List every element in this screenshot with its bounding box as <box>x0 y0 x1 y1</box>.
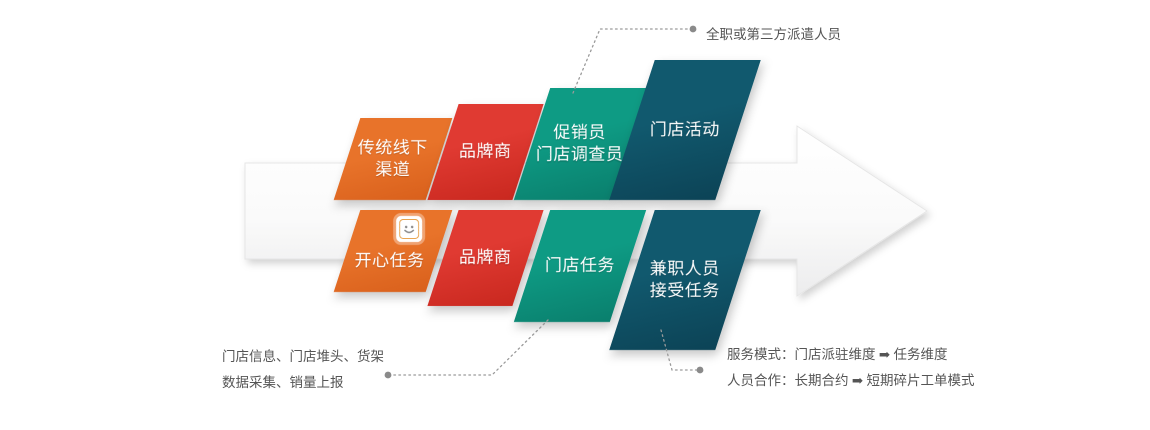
block-label: 开心任务 <box>355 250 425 272</box>
block-label: 促销员 门店调查员 <box>536 122 624 167</box>
connector-dot-bottom-right <box>697 367 704 374</box>
block-label: 门店活动 <box>650 119 720 141</box>
connector-dot-top-right <box>690 26 697 33</box>
annotation-bottom-left: 门店信息、门店堆头、货架 数据采集、销量上报 <box>222 344 384 397</box>
block-store-activity[interactable]: 门店活动 <box>609 60 760 200</box>
block-label: 兼职人员 接受任务 <box>650 258 720 303</box>
block-label: 传统线下 渠道 <box>358 137 428 182</box>
block-label: 门店任务 <box>545 255 615 277</box>
block-label: 品牌商 <box>459 247 512 269</box>
annotation-top-right: 全职或第三方派遣人员 <box>706 22 841 48</box>
block-kaixin-task[interactable]: 开心任务 <box>334 210 453 292</box>
annotation-bottom-right: 服务模式：门店派驻维度 ➡ 任务维度 人员合作：长期合约 ➡ 短期碎片工单模式 <box>727 342 975 395</box>
connector-bottom-left <box>390 320 548 375</box>
block-label: 品牌商 <box>459 141 512 163</box>
diagram-canvas: 传统线下 渠道 品牌商 促销员 门店调查员 门店活动 开心任务 品牌商 门店任务… <box>0 0 1150 430</box>
connector-dot-bottom-left <box>385 372 392 379</box>
smiley-icon <box>396 216 422 242</box>
